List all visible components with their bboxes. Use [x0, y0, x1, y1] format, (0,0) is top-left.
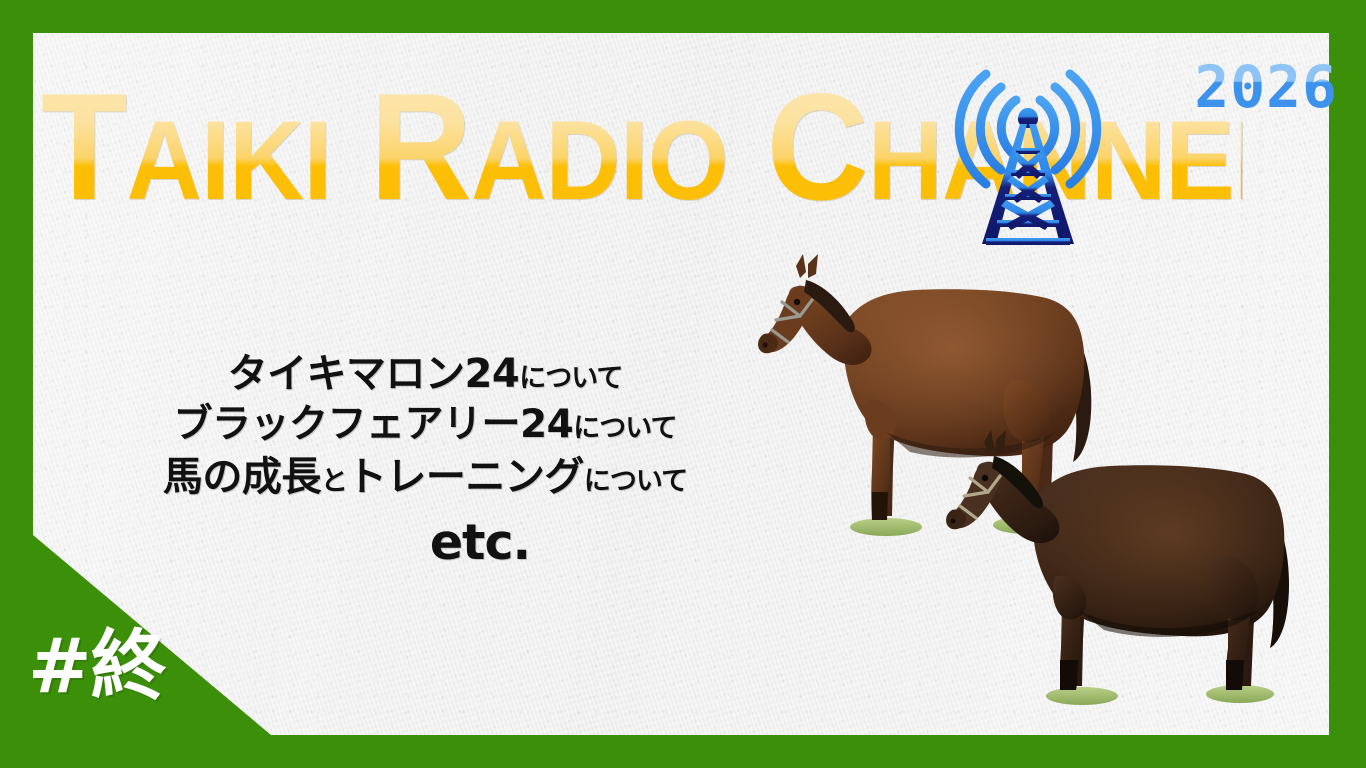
title-segment: R	[331, 62, 471, 232]
topic-1-suffix: について	[519, 363, 622, 394]
title-segment: ADIO	[471, 98, 728, 223]
topic-3-main-a: 馬の成長	[163, 454, 321, 500]
year-badge: 2026	[1194, 58, 1338, 116]
thumbnail-canvas: TAIKI RADIO CHANNEL	[0, 0, 1366, 768]
title-block: TAIKI RADIO CHANNEL	[33, 52, 1329, 242]
topic-line-2: ブラックフェアリー24について	[60, 400, 790, 451]
radio-tower-icon	[938, 52, 1118, 252]
hashtag-badge: #終	[28, 628, 166, 704]
topic-2-suffix: について	[573, 413, 676, 444]
title-segment: C	[728, 62, 868, 232]
topic-3-main-b: トレーニング	[347, 454, 584, 500]
topic-etc: etc.	[60, 503, 790, 575]
title-segment: T	[41, 62, 127, 232]
title-segment: AIKI	[127, 98, 332, 223]
topic-3-mid: と	[321, 466, 347, 497]
topic-line-1: タイキマロン24について	[60, 348, 790, 400]
topic-2-main: ブラックフェアリー24	[174, 402, 574, 447]
topic-list: タイキマロン24について ブラックフェアリー24について 馬の成長とトレーニング…	[60, 348, 790, 574]
topic-line-3: 馬の成長とトレーニングについて	[60, 451, 790, 503]
topic-3-suffix: について	[584, 466, 687, 497]
topic-1-main: タイキマロン24	[228, 351, 520, 397]
